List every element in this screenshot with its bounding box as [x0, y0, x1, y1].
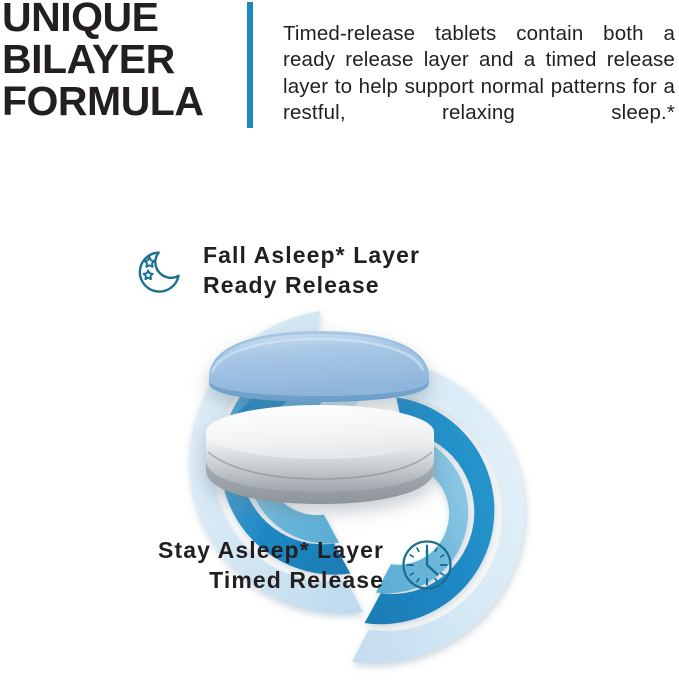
- stay-asleep-line-1: Stay Asleep* Layer: [158, 535, 384, 565]
- headline-line-2: BILAYER: [2, 38, 242, 80]
- fall-asleep-line-1: Fall Asleep* Layer: [203, 240, 420, 270]
- tablet-stack: [0, 140, 679, 690]
- headline-line-1: UNIQUE: [2, 0, 242, 38]
- blue-ready-release-tablet: [209, 331, 429, 402]
- bilayer-illustration: Fall Asleep* Layer Ready Release Stay As…: [0, 140, 679, 690]
- stay-asleep-label: Stay Asleep* Layer Timed Release: [158, 535, 456, 595]
- fall-asleep-line-2: Ready Release: [203, 270, 420, 300]
- intro-paragraph: Timed-release tablets contain both a rea…: [283, 21, 675, 154]
- stay-asleep-label-text: Stay Asleep* Layer Timed Release: [158, 535, 384, 595]
- moon-stars-icon: [133, 242, 189, 298]
- stay-asleep-line-2: Timed Release: [158, 565, 384, 595]
- clock-icon: [398, 536, 456, 594]
- white-timed-release-tablet: [206, 405, 434, 504]
- headline-line-3: FORMULA: [2, 80, 242, 122]
- page-title: UNIQUE BILAYER FORMULA: [2, 0, 242, 122]
- fall-asleep-label-text: Fall Asleep* Layer Ready Release: [203, 240, 420, 300]
- header-section: UNIQUE BILAYER FORMULA Timed-release tab…: [0, 0, 679, 140]
- vertical-divider: [247, 2, 253, 128]
- fall-asleep-label: Fall Asleep* Layer Ready Release: [133, 240, 420, 300]
